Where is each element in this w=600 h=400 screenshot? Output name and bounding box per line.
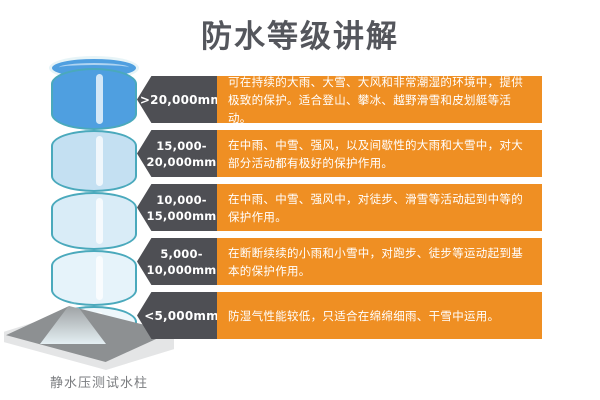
rating-description-text: 在中雨、中雪、强风中，对徒步、滑雪等活动起到中等的保护作用。 bbox=[228, 190, 533, 226]
rating-description-panel-3: 在中雨、中雪、强风中，对徒步、滑雪等活动起到中等的保护作用。 bbox=[217, 184, 542, 231]
segment-highlight bbox=[96, 198, 103, 244]
rating-value-line1: <5,000mm bbox=[144, 308, 219, 324]
rating-value-line1: 5,000- bbox=[160, 246, 202, 262]
rating-value-line1: 10,000- bbox=[156, 192, 207, 208]
water-column-segment-2 bbox=[51, 130, 137, 192]
rating-label-1: >20,000mm bbox=[137, 76, 217, 123]
water-column-segment-4 bbox=[51, 250, 137, 306]
segment-highlight bbox=[96, 136, 103, 186]
rating-description-panel-4: 在断断续续的小雨和小雪中，对跑步、徒步等运动起到基本的保护作用。 bbox=[217, 238, 542, 285]
rating-value-line1: 15,000- bbox=[156, 138, 207, 154]
rating-description-text: 在中雨、中雪、强风，以及间歇性的大雨和大雪中，对大部分活动都有极好的保护作用。 bbox=[228, 136, 533, 172]
rating-label-2: 15,000- 20,000mm bbox=[137, 130, 217, 177]
rating-row-4: 5,000- 10,000mm 在断断续续的小雨和小雪中，对跑步、徒步等运动起到… bbox=[137, 238, 542, 285]
rating-value-line2: 10,000mm bbox=[147, 262, 217, 278]
segment-highlight bbox=[96, 74, 103, 124]
rating-value-line2: 15,000mm bbox=[147, 208, 217, 224]
water-column-segment-3 bbox=[51, 192, 137, 250]
page-title: 防水等级讲解 bbox=[0, 16, 600, 58]
illustration-caption: 静水压测试水柱 bbox=[14, 372, 184, 391]
rating-description-panel-1: 可在持续的大雨、大雪、大风和非常潮湿的环境中，提供极致的保护。适合登山、攀冰、越… bbox=[217, 76, 542, 123]
rating-label-3: 10,000- 15,000mm bbox=[137, 184, 217, 231]
segment-highlight bbox=[96, 256, 103, 300]
rating-row-5: <5,000mm 防湿气性能较低，只适合在绵绵细雨、干雪中运用。 bbox=[137, 292, 542, 339]
rating-description-text: 在断断续续的小雨和小雪中，对跑步、徒步等运动起到基本的保护作用。 bbox=[228, 244, 533, 280]
rating-label-5: <5,000mm bbox=[137, 292, 217, 339]
rating-row-1: >20,000mm 可在持续的大雨、大雪、大风和非常潮湿的环境中，提供极致的保护… bbox=[137, 76, 542, 123]
rating-row-3: 10,000- 15,000mm 在中雨、中雪、强风中，对徒步、滑雪等活动起到中… bbox=[137, 184, 542, 231]
rating-value-line1: >20,000mm bbox=[140, 92, 223, 108]
rating-row-2: 15,000- 20,000mm 在中雨、中雪、强风，以及间歇性的大雨和大雪中，… bbox=[137, 130, 542, 177]
water-column-illustration bbox=[44, 56, 148, 346]
rating-description-text: 防湿气性能较低，只适合在绵绵细雨、干雪中运用。 bbox=[228, 307, 499, 325]
rating-value-line2: 20,000mm bbox=[147, 154, 217, 170]
waterproof-rating-infographic: 防水等级讲解 静水压测试水柱 >20,000mm 可在持续的大雨、大雪、大风和非… bbox=[0, 0, 600, 400]
rating-description-panel-5: 防湿气性能较低，只适合在绵绵细雨、干雪中运用。 bbox=[217, 292, 542, 339]
rating-description-text: 可在持续的大雨、大雪、大风和非常潮湿的环境中，提供极致的保护。适合登山、攀冰、越… bbox=[228, 73, 533, 127]
rating-label-4: 5,000- 10,000mm bbox=[137, 238, 217, 285]
water-column-segment-1 bbox=[51, 68, 137, 130]
rating-description-panel-2: 在中雨、中雪、强风，以及间歇性的大雨和大雪中，对大部分活动都有极好的保护作用。 bbox=[217, 130, 542, 177]
